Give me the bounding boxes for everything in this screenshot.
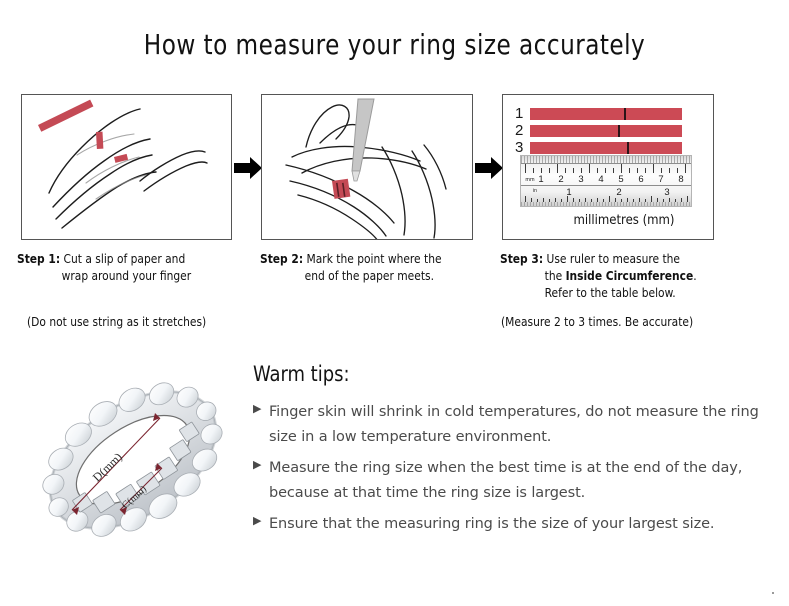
step-1-line2: wrap around your finger <box>17 267 240 284</box>
triangle-bullet-icon: ▶ <box>253 512 269 527</box>
step-3-line1: Use ruler to measure the <box>547 251 680 266</box>
step-3-line2: the Inside Circumference. <box>500 267 738 284</box>
step-3-line3: Refer to the table below. <box>500 284 738 301</box>
triangle-bullet-icon: ▶ <box>253 456 269 471</box>
step-1-illustration-panel <box>21 94 232 240</box>
cm-scale <box>521 164 691 176</box>
warm-tips-heading: Warm tips: <box>253 362 747 386</box>
step-2-label: Step 2: <box>260 251 303 266</box>
warm-tip-item: ▶ Finger skin will shrink in cold temper… <box>253 400 773 450</box>
paper-strip <box>530 108 682 120</box>
warm-tip-text: Ensure that the measuring ring is the si… <box>269 512 714 537</box>
page-speck <box>772 592 774 594</box>
ruler-unit-caption: millimetres (mm) <box>503 213 713 228</box>
step-1-line1: Cut a slip of paper and <box>64 251 186 266</box>
step-3-caption: Step 3: Use ruler to measure the the Ins… <box>500 250 738 301</box>
step-1-label: Step 1: <box>17 251 60 266</box>
paper-strip <box>530 142 682 154</box>
step-3-note: (Measure 2 to 3 times. Be accurate) <box>501 314 693 329</box>
strip-mark <box>618 125 620 137</box>
marker-pen-shape <box>352 99 374 181</box>
warm-tips-section: Warm tips: ▶ Finger skin will shrink in … <box>253 362 773 543</box>
step-2-caption: Step 2: Mark the point where the end of … <box>260 250 483 284</box>
measured-strip-row: 2 <box>515 122 682 139</box>
arrow-step1-to-step2-icon <box>234 157 262 179</box>
step-1-caption: Step 1: Cut a slip of paper and wrap aro… <box>17 250 240 284</box>
diamond-ring-icon <box>28 360 238 560</box>
strip-number: 1 <box>515 105 530 122</box>
measured-strip-row: 3 <box>515 139 682 156</box>
warm-tip-text: Finger skin will shrink in cold temperat… <box>269 400 773 450</box>
hand-marking-paper-icon <box>262 95 473 240</box>
arrow-step2-to-step3-icon <box>475 157 503 179</box>
step-2-line2: end of the paper meets. <box>260 267 483 284</box>
ring-illustration: D(mm) C(mm) <box>28 360 238 560</box>
step-3-label: Step 3: <box>500 251 543 266</box>
strip-number: 2 <box>515 122 530 139</box>
page-title: How to measure your ring size accurately <box>32 28 758 61</box>
step-3-illustration-panel: 1 2 3 <box>502 94 714 240</box>
step-2-line1: Mark the point where the <box>307 251 442 266</box>
step-1-note: (Do not use string as it stretches) <box>27 314 206 329</box>
strip-number: 3 <box>515 139 530 156</box>
step-3-line2-suffix: . <box>693 268 696 283</box>
warm-tip-item: ▶ Ensure that the measuring ring is the … <box>253 512 773 537</box>
strip-mark <box>627 142 629 154</box>
paper-strip <box>530 125 682 137</box>
warm-tip-item: ▶ Measure the ring size when the best ti… <box>253 456 773 506</box>
step-3-line2-bold: Inside Circumference <box>566 268 694 283</box>
warm-tip-text: Measure the ring size when the best time… <box>269 456 773 506</box>
step-2-illustration-panel <box>261 94 473 240</box>
ruler-unit-mm: mm <box>525 177 534 183</box>
strip-mark <box>624 108 626 120</box>
ring-size-guide-page: How to measure your ring size accurately <box>0 0 789 606</box>
ruler-graphic: 1 2 3 4 5 6 7 8 mm 1 2 3 in <box>520 155 692 207</box>
paper-strip-shape <box>332 179 350 199</box>
step-3-line2-prefix: the <box>545 268 566 283</box>
measured-strip-row: 1 <box>515 105 682 122</box>
hand-with-paper-strip-icon <box>22 95 232 240</box>
triangle-bullet-icon: ▶ <box>253 400 269 415</box>
